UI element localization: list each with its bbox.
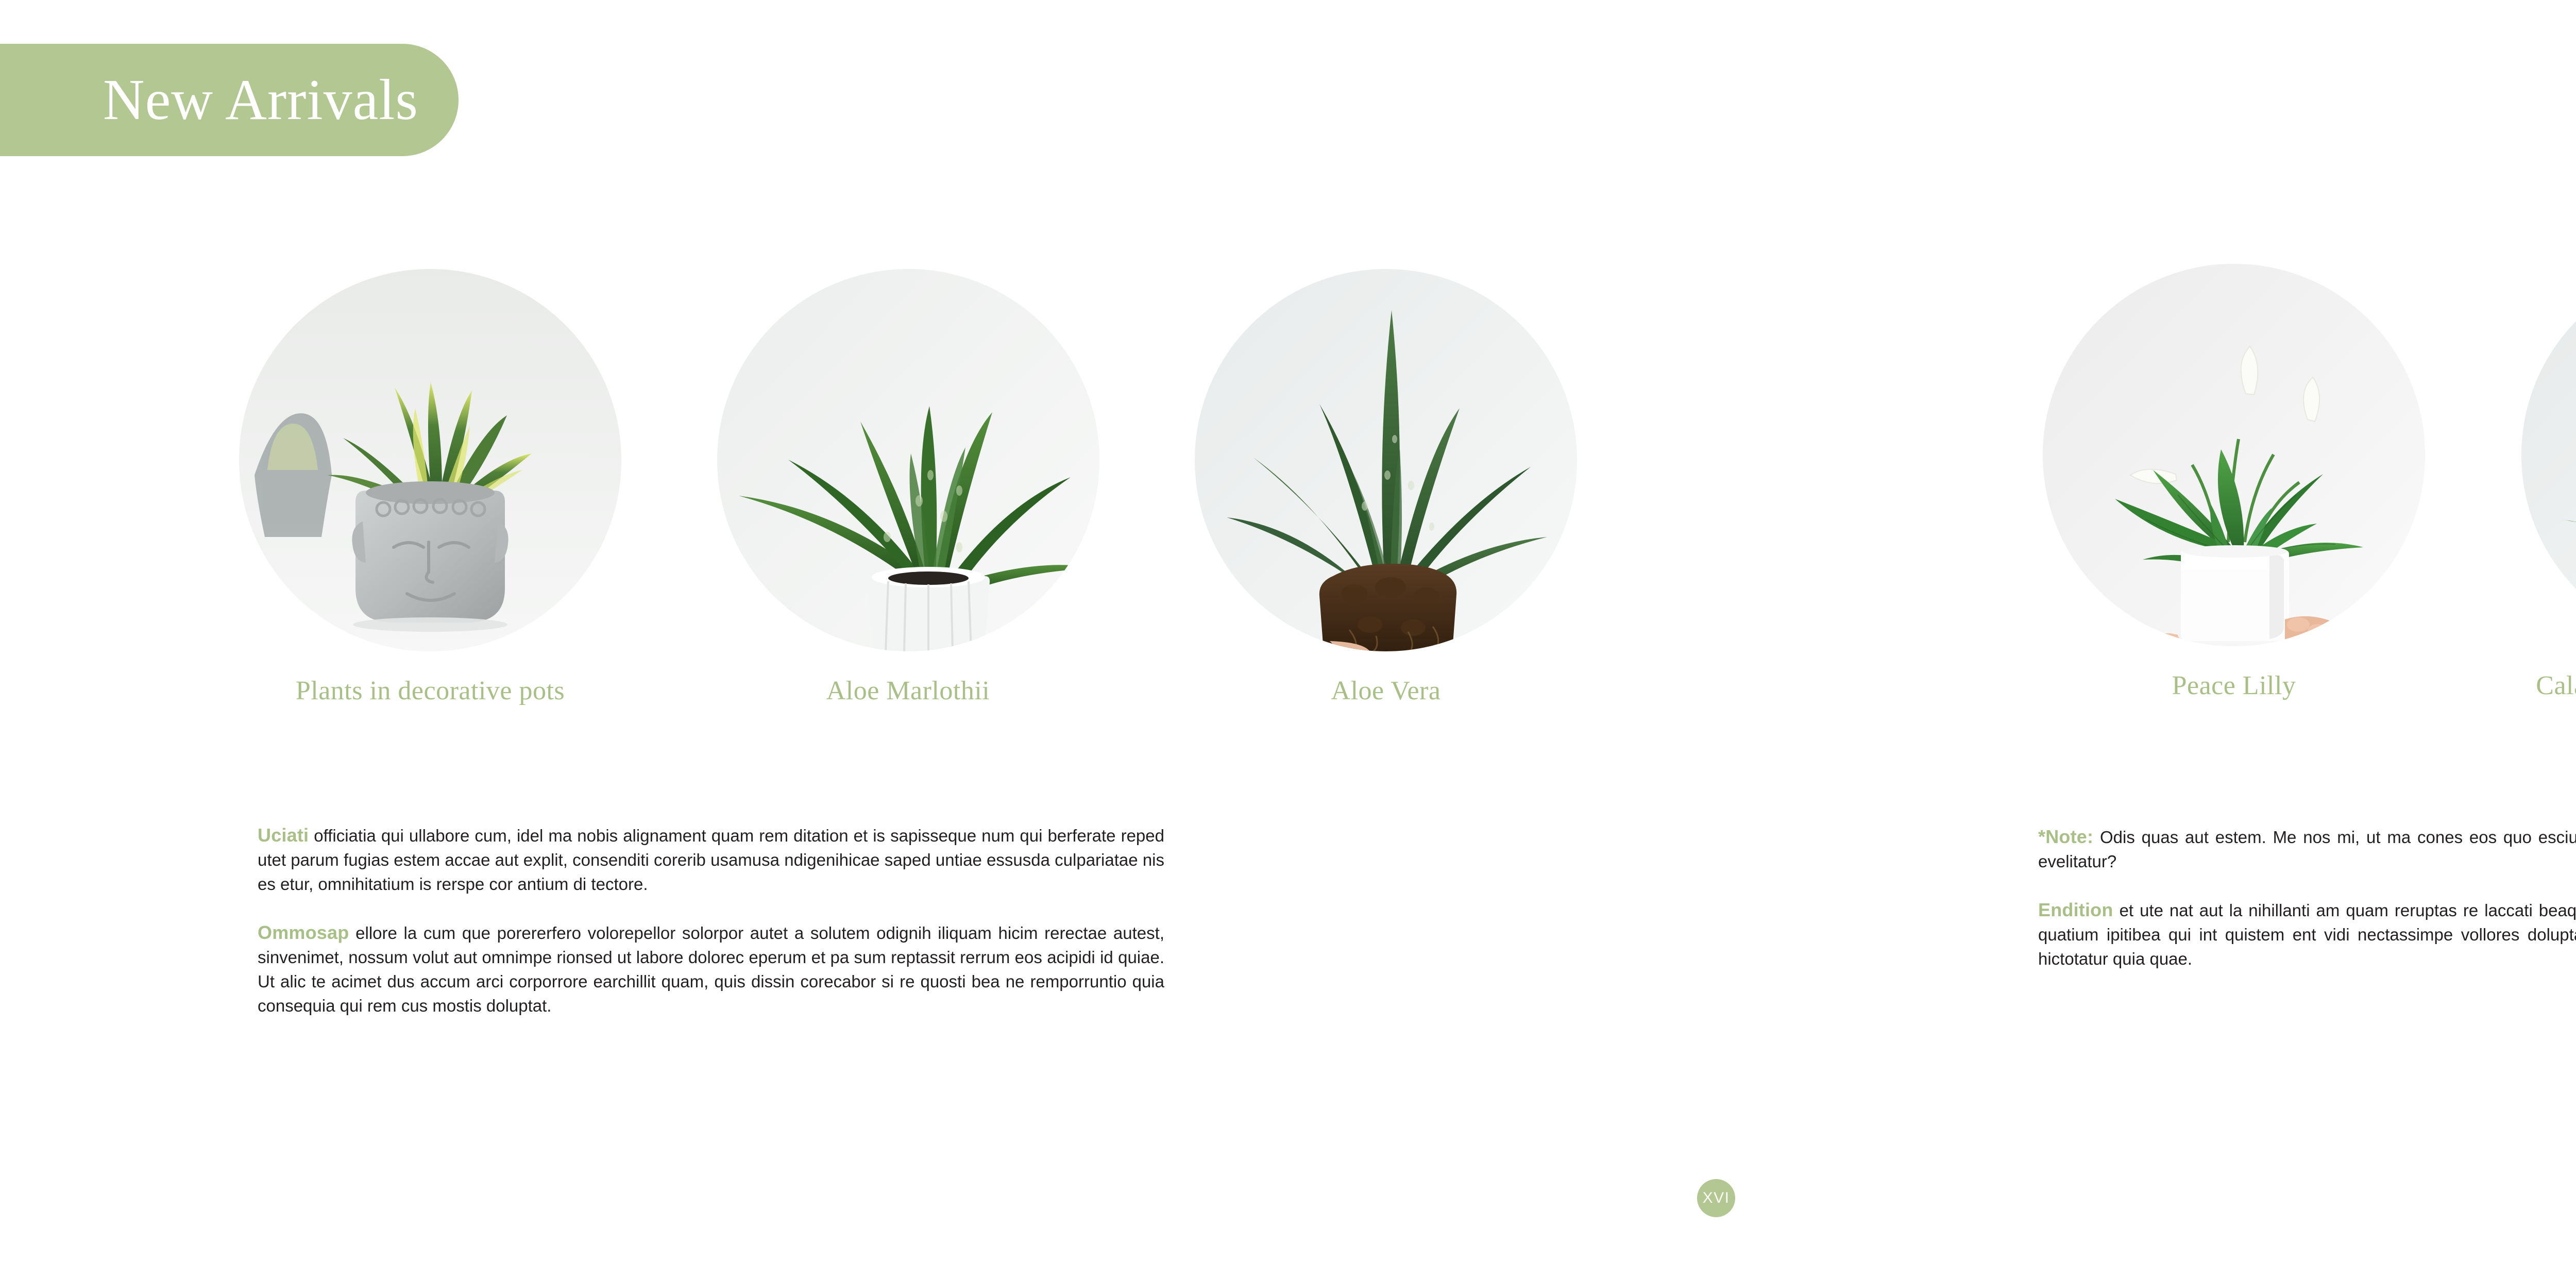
left-page-number-badge: XVI — [1697, 1179, 1735, 1217]
snake-plant-buddha-pot-photo — [239, 269, 621, 651]
paragraph: Endition et ute nat aut la nihillanti am… — [2038, 897, 2576, 971]
paragraph: *Note: Odis quas aut estem. Me nos mi, u… — [2038, 823, 2576, 874]
product-card[interactable]: Peace Lilly — [2038, 264, 2430, 737]
page-number: XVI — [1703, 1190, 1730, 1206]
aloe-marlothii-white-pot-photo — [717, 269, 1099, 651]
paragraph-lead: *Note: — [2038, 826, 2093, 847]
paragraph-text: et ute nat aut la nihillanti am quam rer… — [2038, 901, 2576, 968]
paragraph: Ommosap ellore la cum que porererfero vo… — [258, 919, 1164, 1018]
product-caption: Aloe Vera — [1206, 674, 1566, 709]
paragraph-lead: Endition — [2038, 899, 2113, 920]
product-card[interactable]: Aloe Marlothii — [713, 269, 1104, 709]
product-card[interactable]: Plants in decorative pots — [234, 269, 626, 709]
product-caption: Aloe Marlothii — [728, 674, 1089, 709]
product-caption: Calathea Lancifolia (Goeppertia insignis… — [2532, 669, 2576, 737]
product-caption: Plants in decorative pots — [250, 674, 611, 709]
right-page: Peace Lilly — [1807, 0, 2576, 1278]
peace-lily-white-pot-photo — [2043, 264, 2425, 646]
calathea-lancifolia-photo — [2521, 264, 2576, 646]
paragraph-text: ellore la cum que porererfero volorepell… — [258, 923, 1164, 1015]
product-caption: Peace Lilly — [2054, 669, 2414, 703]
left-product-row: Plants in decorative pots — [234, 269, 1582, 709]
aloe-vera-bare-root-photo — [1195, 269, 1577, 651]
product-card[interactable]: Calathea Lancifolia (Goeppertia insignis… — [2517, 264, 2576, 737]
left-page: Plants in decorative pots — [0, 0, 1807, 1278]
right-product-row: Peace Lilly — [2038, 264, 2576, 737]
paragraph-text: officiatia qui ullabore cum, idel ma nob… — [258, 826, 1164, 894]
right-body-copy: *Note: Odis quas aut estem. Me nos mi, u… — [2038, 823, 2576, 971]
product-card[interactable]: Aloe Vera — [1190, 269, 1582, 709]
paragraph-text: Odis quas aut estem. Me nos mi, ut ma co… — [2038, 828, 2576, 871]
magazine-spread: Plants in decorative pots — [0, 0, 2576, 1278]
paragraph-lead: Uciati — [258, 825, 309, 846]
paragraph-lead: Ommosap — [258, 922, 349, 943]
paragraph: Uciati officiatia qui ullabore cum, idel… — [258, 822, 1164, 897]
left-body-copy: Uciati officiatia qui ullabore cum, idel… — [258, 822, 1164, 1018]
